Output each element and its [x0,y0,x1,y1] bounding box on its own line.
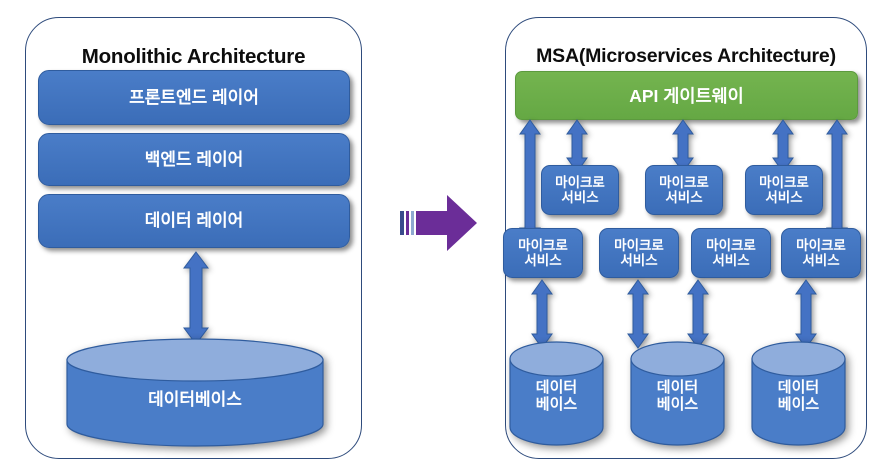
database-cylinder-msa-3[interactable]: 데이터 베이스 [751,341,846,447]
microservice-box-top-3-line2: 서비스 [765,190,802,205]
microservice-box-bottom-4-line2: 서비스 [802,253,839,268]
microservice-box-top-1-line1: 마이크로 [555,175,605,190]
microservice-box-top-2[interactable]: 마이크로 서비스 [645,165,723,215]
microservice-box-bottom-1-line2: 서비스 [524,253,561,268]
microservice-box-top-1[interactable]: 마이크로 서비스 [541,165,619,215]
microservice-box-top-2-line1: 마이크로 [659,175,709,190]
diagram-canvas: Monolithic Architecture 프론트엔드 레이어 백엔드 레이… [0,0,886,473]
connector-service-database-3 [687,280,709,348]
connector-service-database-4 [795,280,817,348]
connector-gateway-service-left-long [519,120,541,242]
microservice-box-top-2-line2: 서비스 [665,190,702,205]
connector-gateway-service-right-long [826,120,848,242]
msa-panel-title: MSA(Microservices Architecture) [506,45,866,68]
microservice-box-bottom-2-line2: 서비스 [620,253,657,268]
layer-box-data[interactable]: 데이터 레이어 [38,194,350,248]
layer-box-frontend-label: 프론트엔드 레이어 [129,88,259,107]
microservice-box-bottom-3[interactable]: 마이크로 서비스 [691,228,771,278]
database-cylinder-msa-1[interactable]: 데이터 베이스 [509,341,604,447]
connector-datalayer-database [183,252,209,344]
api-gateway-label: API 게이트웨이 [629,83,744,108]
microservice-box-top-1-line2: 서비스 [561,190,598,205]
layer-box-data-label: 데이터 레이어 [145,211,244,230]
database-cylinder-msa-2[interactable]: 데이터 베이스 [630,341,725,447]
microservice-box-bottom-2[interactable]: 마이크로 서비스 [599,228,679,278]
right-arrow-icon [400,193,478,253]
microservice-box-top-3[interactable]: 마이크로 서비스 [745,165,823,215]
connector-service-database-1 [531,280,553,348]
monolithic-panel-title: Monolithic Architecture [26,45,361,69]
layer-box-backend-label: 백엔드 레이어 [145,150,244,169]
connector-service-database-2 [627,280,649,348]
microservice-box-bottom-1[interactable]: 마이크로 서비스 [503,228,583,278]
database-cylinder-monolith[interactable]: 데이터베이스 [66,338,324,446]
microservice-box-bottom-2-line1: 마이크로 [614,238,664,253]
microservice-box-top-3-line1: 마이크로 [759,175,809,190]
microservice-box-bottom-3-line1: 마이크로 [706,238,756,253]
layer-box-frontend[interactable]: 프론트엔드 레이어 [38,70,350,125]
microservice-box-bottom-4[interactable]: 마이크로 서비스 [781,228,861,278]
microservice-box-bottom-4-line1: 마이크로 [796,238,846,253]
api-gateway-box[interactable]: API 게이트웨이 [515,71,858,120]
microservice-box-bottom-1-line1: 마이크로 [518,238,568,253]
layer-box-backend[interactable]: 백엔드 레이어 [38,133,350,186]
microservice-box-bottom-3-line2: 서비스 [712,253,749,268]
